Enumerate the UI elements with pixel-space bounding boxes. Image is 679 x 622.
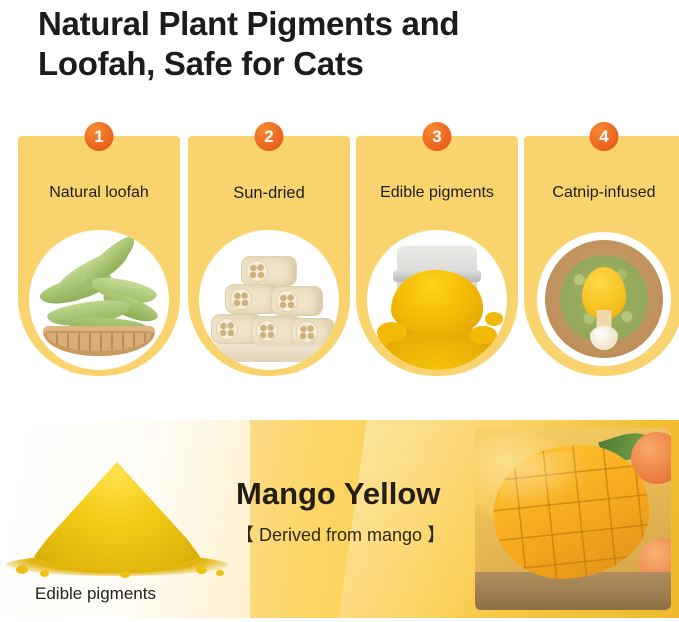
- feature-card-catnip-infused[interactable]: 4 Catnip-infused: [524, 136, 679, 376]
- turmeric-powder-jar-photo: [367, 230, 507, 370]
- card-label-1: Natural loofah: [18, 184, 180, 202]
- green-loofah-gourds-photo: [29, 230, 169, 370]
- banner-text-block: Mango Yellow 【 Derived from mango 】: [236, 478, 445, 547]
- feature-card-sun-dried[interactable]: 2 Sun-dried: [188, 136, 350, 376]
- page-title: Natural Plant Pigments and Loofah, Safe …: [38, 4, 638, 85]
- card-number-badge-4: 4: [590, 122, 619, 151]
- mango-yellow-banner: Edible pigments Mango Yellow 【 Derived f…: [0, 420, 679, 618]
- hedgehog-cut-mango: [487, 438, 656, 586]
- catnip-bowl-with-toy-photo: [537, 232, 671, 366]
- card-number-badge-3: 3: [423, 122, 452, 151]
- powder-cone: [24, 462, 210, 570]
- feature-card-natural-loofah[interactable]: 1 Natural loofah: [18, 136, 180, 376]
- mango-yellow-heading: Mango Yellow: [236, 478, 445, 509]
- card-label-4: Catnip-infused: [524, 184, 679, 202]
- feature-card-edible-pigments[interactable]: 3 Edible pigments: [356, 136, 518, 376]
- feature-cards-row: 1 Natural loofah 2 Sun-dried 3 Edib: [0, 122, 679, 390]
- page-title-line-1: Natural Plant Pigments and: [38, 4, 638, 44]
- pigment-caption: Edible pigments: [35, 584, 156, 604]
- yellow-pigment-powder-cone-photo: Edible pigments: [0, 420, 250, 618]
- cut-mango-photo: [475, 428, 671, 610]
- card-number-badge-1: 1: [85, 122, 114, 151]
- wooden-basket: [43, 326, 155, 356]
- mango-yellow-subheading: 【 Derived from mango 】: [236, 521, 445, 547]
- mango-highlight: [496, 449, 595, 511]
- page-title-line-2: Loofah, Safe for Cats: [38, 44, 638, 84]
- card-label-2: Sun-dried: [188, 184, 350, 203]
- card-label-3: Edible pigments: [356, 184, 518, 202]
- card-number-badge-2: 2: [255, 122, 284, 151]
- dried-loofah-sponge-photo: [199, 230, 339, 370]
